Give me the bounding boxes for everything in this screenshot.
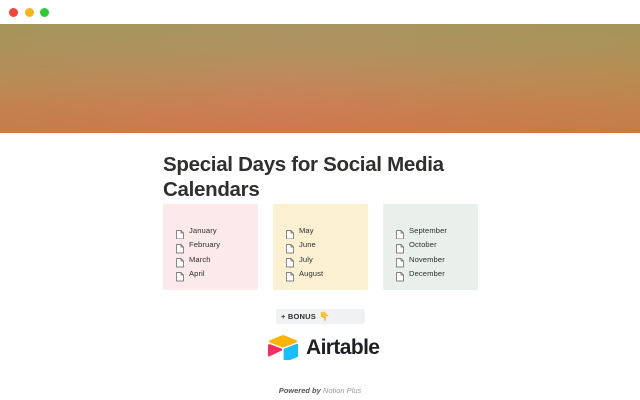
page-icon	[286, 241, 294, 251]
page-icon	[286, 226, 294, 236]
list-item-label: June	[299, 241, 316, 249]
airtable-wordmark: Airtable	[306, 337, 379, 358]
list-item[interactable]: July	[286, 252, 368, 266]
page-icon	[176, 241, 184, 251]
month-card-q2: May June	[273, 204, 368, 290]
close-window-button[interactable]	[9, 8, 18, 17]
powered-by-brand: Notion Plus	[323, 386, 361, 395]
page-icon	[286, 269, 294, 279]
list-item-label: February	[189, 241, 220, 249]
maximize-window-button[interactable]	[40, 8, 49, 17]
list-item[interactable]: October	[396, 238, 478, 252]
page-icon	[396, 255, 404, 265]
bonus-label: + BONUS	[281, 313, 316, 321]
window-titlebar	[0, 0, 640, 24]
list-item[interactable]: January	[176, 224, 258, 238]
list-item-label: October	[409, 241, 437, 249]
page-icon	[286, 255, 294, 265]
page-content: Special Days for Social Media Calendars …	[0, 133, 640, 400]
hero-cover-banner	[0, 24, 640, 133]
page-icon	[396, 226, 404, 236]
list-item-label: May	[299, 227, 314, 235]
page-icon	[396, 269, 404, 279]
list-item[interactable]: September	[396, 224, 478, 238]
month-card-q3: September October	[383, 204, 478, 290]
airtable-mark-icon	[268, 334, 298, 360]
list-item[interactable]: April	[176, 267, 258, 281]
powered-by-footer: Powered by Notion Plus	[0, 386, 640, 395]
page-title: Special Days for Social Media Calendars	[163, 152, 463, 202]
bonus-callout[interactable]: + BONUS 👇	[276, 309, 365, 324]
month-card-group: January February	[163, 204, 478, 290]
list-item[interactable]: March	[176, 252, 258, 266]
list-item-label: August	[299, 270, 323, 278]
page-icon	[396, 241, 404, 251]
list-item[interactable]: May	[286, 224, 368, 238]
list-item[interactable]: November	[396, 252, 478, 266]
browser-window: Special Days for Social Media Calendars …	[0, 0, 640, 400]
list-item-label: September	[409, 227, 447, 235]
list-item-label: April	[189, 270, 205, 278]
list-item[interactable]: August	[286, 267, 368, 281]
list-item-label: December	[409, 270, 445, 278]
powered-by-label: Powered by	[279, 386, 321, 395]
point-down-icon: 👇	[319, 312, 330, 321]
list-item[interactable]: December	[396, 267, 478, 281]
list-item-label: July	[299, 256, 313, 264]
list-item-label: March	[189, 256, 211, 264]
airtable-logo[interactable]: Airtable	[268, 334, 379, 360]
traffic-light-controls	[9, 8, 49, 17]
page-icon	[176, 269, 184, 279]
list-item-label: January	[189, 227, 217, 235]
minimize-window-button[interactable]	[25, 8, 34, 17]
list-item[interactable]: February	[176, 238, 258, 252]
page-icon	[176, 255, 184, 265]
page-icon	[176, 226, 184, 236]
list-item[interactable]: June	[286, 238, 368, 252]
list-item-label: November	[409, 256, 445, 264]
month-card-q1: January February	[163, 204, 258, 290]
